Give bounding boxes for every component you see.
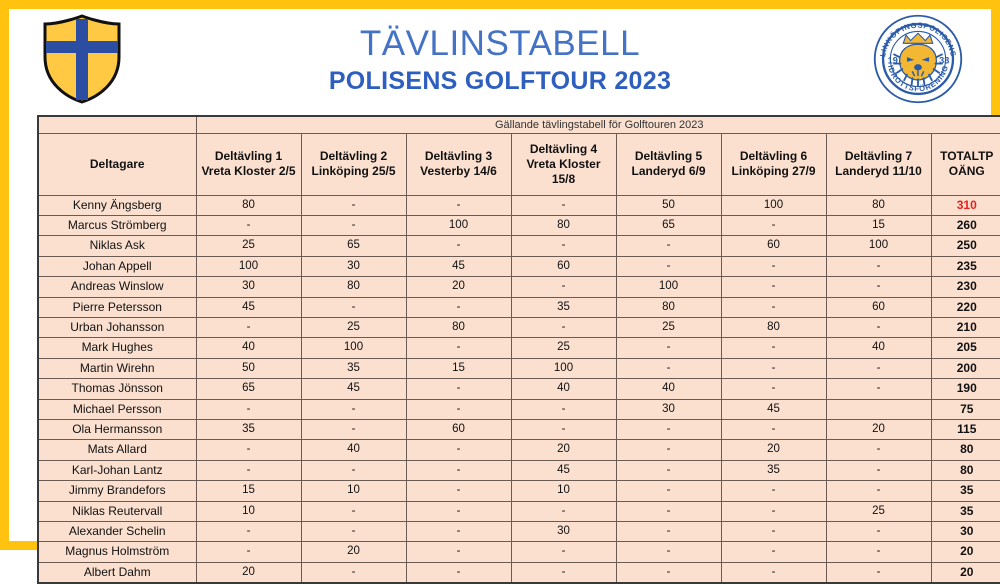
shield-logo — [27, 10, 137, 108]
score-cell-event-2: - — [301, 501, 406, 521]
column-header-event-2: Deltävling 2 Linköping 25/5 — [301, 133, 406, 195]
score-cell-event-4: - — [511, 195, 616, 215]
score-cell-event-2: 80 — [301, 277, 406, 297]
score-cell-event-5: 80 — [616, 297, 721, 317]
column-header-event-4: Deltävling 4 Vreta Kloster 15/8 — [511, 133, 616, 195]
score-cell-event-3: - — [406, 440, 511, 460]
column-header-event-6: Deltävling 6 Linköping 27/9 — [721, 133, 826, 195]
total-points-cell: 205 — [931, 338, 1000, 358]
score-cell-event-1: - — [196, 460, 301, 480]
table-row: Mark Hughes40100-25--40205 — [38, 338, 1000, 358]
score-cell-event-4: - — [511, 562, 616, 583]
score-cell-event-2: 30 — [301, 256, 406, 276]
score-cell-event-2: 40 — [301, 440, 406, 460]
score-cell-event-5: - — [616, 236, 721, 256]
column-header-deltagare: Deltagare — [38, 133, 196, 195]
score-cell-event-2: 35 — [301, 358, 406, 378]
column-header-event-1: Deltävling 1 Vreta Kloster 2/5 — [196, 133, 301, 195]
score-cell-event-5: - — [616, 542, 721, 562]
table-row: Magnus Holmström-20-----20 — [38, 542, 1000, 562]
table-row: Andreas Winslow308020-100--230 — [38, 277, 1000, 297]
score-cell-event-1: 25 — [196, 236, 301, 256]
score-cell-event-2: 25 — [301, 317, 406, 337]
score-cell-event-6: - — [721, 501, 826, 521]
score-cell-event-2: 100 — [301, 338, 406, 358]
table-row: Jimmy Brandefors1510-10---35 — [38, 481, 1000, 501]
score-cell-event-6: - — [721, 542, 826, 562]
participant-name: Pierre Petersson — [38, 297, 196, 317]
score-cell-event-6: 60 — [721, 236, 826, 256]
score-cell-event-3: - — [406, 522, 511, 542]
table-row: Martin Wirehn503515100---200 — [38, 358, 1000, 378]
table-row: Karl-Johan Lantz---45-35-80 — [38, 460, 1000, 480]
score-cell-event-3: - — [406, 481, 511, 501]
table-row: Niklas Ask2565---60100250 — [38, 236, 1000, 256]
participant-name: Niklas Reutervall — [38, 501, 196, 521]
score-cell-event-7: - — [826, 522, 931, 542]
participant-name: Urban Johansson — [38, 317, 196, 337]
score-cell-event-7: - — [826, 256, 931, 276]
score-cell-event-7: 20 — [826, 419, 931, 439]
total-points-cell: 30 — [931, 522, 1000, 542]
document-page: TÄVLINSTABELL POLISENS GOLFTOUR 2023 LIN… — [0, 0, 1000, 550]
banner-blank-cell — [38, 116, 196, 133]
column-header-event-7: Deltävling 7 Landeryd 11/10 — [826, 133, 931, 195]
score-cell-event-1: 10 — [196, 501, 301, 521]
column-header-title: Deltävling 4 — [514, 142, 614, 157]
score-cell-event-1: 45 — [196, 297, 301, 317]
participant-name: Mark Hughes — [38, 338, 196, 358]
score-cell-event-2: - — [301, 195, 406, 215]
score-cell-event-7: - — [826, 317, 931, 337]
column-header-title: Deltagare — [41, 157, 194, 172]
column-header-subtitle: OÄNG — [934, 164, 1000, 179]
score-cell-event-4: 80 — [511, 215, 616, 235]
swedish-cross-shield-icon — [39, 13, 125, 105]
table-row: Johan Appell100304560---235 — [38, 256, 1000, 276]
score-cell-event-1: 100 — [196, 256, 301, 276]
score-cell-event-7: 15 — [826, 215, 931, 235]
score-cell-event-5: - — [616, 501, 721, 521]
page-subtitle: POLISENS GOLFTOUR 2023 — [137, 68, 863, 94]
score-cell-event-6: - — [721, 481, 826, 501]
score-cell-event-4: - — [511, 277, 616, 297]
score-cell-event-2: 65 — [301, 236, 406, 256]
title-block: TÄVLINSTABELL POLISENS GOLFTOUR 2023 — [137, 26, 863, 95]
score-cell-event-2: - — [301, 297, 406, 317]
table-banner-text: Gällande tävlingstabell för Golftouren 2… — [196, 116, 1000, 133]
score-cell-event-3: - — [406, 562, 511, 583]
score-cell-event-7: - — [826, 460, 931, 480]
table-row: Ola Hermansson35-60---20115 — [38, 419, 1000, 439]
total-points-cell: 75 — [931, 399, 1000, 419]
score-cell-event-4: 60 — [511, 256, 616, 276]
score-cell-event-6: - — [721, 358, 826, 378]
column-header-title: Deltävling 7 — [829, 149, 929, 164]
score-cell-event-5: 65 — [616, 215, 721, 235]
score-cell-event-5: - — [616, 256, 721, 276]
column-header-title: Deltävling 2 — [304, 149, 404, 164]
column-header-subtitle: Vreta Kloster 15/8 — [514, 157, 614, 187]
score-cell-event-1: 40 — [196, 338, 301, 358]
score-cell-event-6: 45 — [721, 399, 826, 419]
score-cell-event-3: - — [406, 460, 511, 480]
score-cell-event-1: - — [196, 440, 301, 460]
score-cell-event-2: 45 — [301, 379, 406, 399]
participant-name: Thomas Jönsson — [38, 379, 196, 399]
total-points-cell: 210 — [931, 317, 1000, 337]
score-cell-event-4: - — [511, 542, 616, 562]
total-points-cell: 260 — [931, 215, 1000, 235]
participant-name: Jimmy Brandefors — [38, 481, 196, 501]
score-cell-event-3: - — [406, 195, 511, 215]
score-cell-event-5: - — [616, 338, 721, 358]
standings-table-wrapper: Gällande tävlingstabell för Golftouren 2… — [37, 115, 963, 584]
column-header-title: Deltävling 3 — [409, 149, 509, 164]
score-cell-event-4: 40 — [511, 379, 616, 399]
score-cell-event-2: - — [301, 419, 406, 439]
total-points-cell: 230 — [931, 277, 1000, 297]
column-header-subtitle: Landeryd 11/10 — [829, 164, 929, 179]
score-cell-event-3: - — [406, 379, 511, 399]
total-points-cell: 310 — [931, 195, 1000, 215]
score-cell-event-7: 40 — [826, 338, 931, 358]
participant-name: Mats Allard — [38, 440, 196, 460]
participant-name: Kenny Ängsberg — [38, 195, 196, 215]
participant-name: Niklas Ask — [38, 236, 196, 256]
page-title: TÄVLINSTABELL — [137, 26, 863, 63]
score-cell-event-6: 100 — [721, 195, 826, 215]
total-points-cell: 80 — [931, 460, 1000, 480]
score-cell-event-2: - — [301, 460, 406, 480]
score-cell-event-7: - — [826, 481, 931, 501]
score-cell-event-6: 35 — [721, 460, 826, 480]
score-cell-event-7 — [826, 399, 931, 419]
score-cell-event-3: 15 — [406, 358, 511, 378]
table-row: Mats Allard-40-20-20-80 — [38, 440, 1000, 460]
score-cell-event-6: - — [721, 277, 826, 297]
score-cell-event-5: - — [616, 419, 721, 439]
participant-name: Ola Hermansson — [38, 419, 196, 439]
score-cell-event-6: - — [721, 562, 826, 583]
participant-name: Magnus Holmström — [38, 542, 196, 562]
document-header: TÄVLINSTABELL POLISENS GOLFTOUR 2023 LIN… — [9, 9, 991, 109]
score-cell-event-7: - — [826, 358, 931, 378]
score-cell-event-5: 100 — [616, 277, 721, 297]
score-cell-event-2: - — [301, 562, 406, 583]
total-points-cell: 20 — [931, 542, 1000, 562]
score-cell-event-5: - — [616, 358, 721, 378]
score-cell-event-4: 100 — [511, 358, 616, 378]
participant-name: Alexander Schelin — [38, 522, 196, 542]
table-row: Albert Dahm20------20 — [38, 562, 1000, 583]
score-cell-event-6: - — [721, 419, 826, 439]
score-cell-event-6: - — [721, 297, 826, 317]
score-cell-event-2: - — [301, 522, 406, 542]
table-row: Kenny Ängsberg80---5010080310 — [38, 195, 1000, 215]
score-cell-event-1: 15 — [196, 481, 301, 501]
score-cell-event-3: - — [406, 338, 511, 358]
score-cell-event-3: - — [406, 501, 511, 521]
score-cell-event-5: 50 — [616, 195, 721, 215]
score-cell-event-1: 20 — [196, 562, 301, 583]
score-cell-event-5: - — [616, 440, 721, 460]
score-cell-event-1: 65 — [196, 379, 301, 399]
column-header-title: Deltävling 5 — [619, 149, 719, 164]
score-cell-event-3: 60 — [406, 419, 511, 439]
score-cell-event-1: 35 — [196, 419, 301, 439]
table-head: Gällande tävlingstabell för Golftouren 2… — [38, 116, 1000, 195]
table-banner-row: Gällande tävlingstabell för Golftouren 2… — [38, 116, 1000, 133]
score-cell-event-3: - — [406, 297, 511, 317]
score-cell-event-6: 20 — [721, 440, 826, 460]
linkopingspolisens-idrottsforening-badge-icon: LINKÖPINGSPOLISENS IDROTTSFÖRENING 19 33 — [872, 13, 964, 105]
total-points-cell: 220 — [931, 297, 1000, 317]
score-cell-event-7: 25 — [826, 501, 931, 521]
participant-name: Johan Appell — [38, 256, 196, 276]
score-cell-event-6: - — [721, 338, 826, 358]
club-badge-logo: LINKÖPINGSPOLISENS IDROTTSFÖRENING 19 33 — [863, 10, 973, 108]
column-header-subtitle: Vreta Kloster 2/5 — [199, 164, 299, 179]
score-cell-event-4: - — [511, 317, 616, 337]
score-cell-event-6: - — [721, 522, 826, 542]
score-cell-event-3: 45 — [406, 256, 511, 276]
score-cell-event-2: 10 — [301, 481, 406, 501]
column-header-subtitle: Linköping 25/5 — [304, 164, 404, 179]
score-cell-event-4: 45 — [511, 460, 616, 480]
score-cell-event-5: - — [616, 562, 721, 583]
score-cell-event-5: 40 — [616, 379, 721, 399]
score-cell-event-1: 80 — [196, 195, 301, 215]
score-cell-event-1: - — [196, 317, 301, 337]
column-header-total: TOTALTP OÄNG — [931, 133, 1000, 195]
table-column-header-row: Deltagare Deltävling 1 Vreta Kloster 2/5… — [38, 133, 1000, 195]
score-cell-event-4: - — [511, 419, 616, 439]
score-cell-event-6: - — [721, 379, 826, 399]
participant-name: Albert Dahm — [38, 562, 196, 583]
score-cell-event-4: 30 — [511, 522, 616, 542]
score-cell-event-2: 20 — [301, 542, 406, 562]
score-cell-event-7: - — [826, 440, 931, 460]
score-cell-event-1: - — [196, 399, 301, 419]
participant-name: Michael Persson — [38, 399, 196, 419]
total-points-cell: 80 — [931, 440, 1000, 460]
score-cell-event-5: - — [616, 460, 721, 480]
score-cell-event-3: - — [406, 236, 511, 256]
score-cell-event-2: - — [301, 215, 406, 235]
total-points-cell: 20 — [931, 562, 1000, 583]
column-header-subtitle: Linköping 27/9 — [724, 164, 824, 179]
table-row: Marcus Strömberg--1008065-15260 — [38, 215, 1000, 235]
score-cell-event-3: 80 — [406, 317, 511, 337]
participant-name: Andreas Winslow — [38, 277, 196, 297]
score-cell-event-1: - — [196, 215, 301, 235]
table-row: Alexander Schelin---30---30 — [38, 522, 1000, 542]
score-cell-event-1: - — [196, 542, 301, 562]
total-points-cell: 200 — [931, 358, 1000, 378]
column-header-title: Deltävling 6 — [724, 149, 824, 164]
column-header-event-3: Deltävling 3 Vesterby 14/6 — [406, 133, 511, 195]
score-cell-event-7: 80 — [826, 195, 931, 215]
column-header-subtitle: Landeryd 6/9 — [619, 164, 719, 179]
participant-name: Marcus Strömberg — [38, 215, 196, 235]
total-points-cell: 190 — [931, 379, 1000, 399]
total-points-cell: 35 — [931, 501, 1000, 521]
score-cell-event-4: - — [511, 501, 616, 521]
score-cell-event-7: - — [826, 562, 931, 583]
total-points-cell: 35 — [931, 481, 1000, 501]
table-body: Kenny Ängsberg80---5010080310Marcus Strö… — [38, 195, 1000, 583]
table-row: Pierre Petersson45--3580-60220 — [38, 297, 1000, 317]
score-cell-event-6: - — [721, 256, 826, 276]
score-cell-event-5: 30 — [616, 399, 721, 419]
table-row: Urban Johansson-2580-2580-210 — [38, 317, 1000, 337]
score-cell-event-4: 35 — [511, 297, 616, 317]
total-points-cell: 235 — [931, 256, 1000, 276]
score-cell-event-3: - — [406, 542, 511, 562]
table-row: Niklas Reutervall10-----2535 — [38, 501, 1000, 521]
participant-name: Karl-Johan Lantz — [38, 460, 196, 480]
column-header-event-5: Deltävling 5 Landeryd 6/9 — [616, 133, 721, 195]
score-cell-event-7: 100 — [826, 236, 931, 256]
total-points-cell: 115 — [931, 419, 1000, 439]
score-cell-event-1: 30 — [196, 277, 301, 297]
score-cell-event-4: 25 — [511, 338, 616, 358]
score-cell-event-4: 10 — [511, 481, 616, 501]
score-cell-event-5: - — [616, 522, 721, 542]
score-cell-event-6: - — [721, 215, 826, 235]
score-cell-event-3: 100 — [406, 215, 511, 235]
score-cell-event-7: 60 — [826, 297, 931, 317]
score-cell-event-1: - — [196, 522, 301, 542]
column-header-subtitle: Vesterby 14/6 — [409, 164, 509, 179]
table-row: Michael Persson----304575 — [38, 399, 1000, 419]
standings-table: Gällande tävlingstabell för Golftouren 2… — [37, 115, 1000, 584]
score-cell-event-5: 25 — [616, 317, 721, 337]
column-header-title: TOTALTP — [934, 149, 1000, 164]
score-cell-event-4: 20 — [511, 440, 616, 460]
table-row: Thomas Jönsson6545-4040--190 — [38, 379, 1000, 399]
column-header-title: Deltävling 1 — [199, 149, 299, 164]
score-cell-event-3: - — [406, 399, 511, 419]
score-cell-event-3: 20 — [406, 277, 511, 297]
total-points-cell: 250 — [931, 236, 1000, 256]
score-cell-event-7: - — [826, 277, 931, 297]
score-cell-event-7: - — [826, 379, 931, 399]
score-cell-event-4: - — [511, 236, 616, 256]
score-cell-event-4: - — [511, 399, 616, 419]
score-cell-event-7: - — [826, 542, 931, 562]
participant-name: Martin Wirehn — [38, 358, 196, 378]
score-cell-event-6: 80 — [721, 317, 826, 337]
score-cell-event-5: - — [616, 481, 721, 501]
score-cell-event-2: - — [301, 399, 406, 419]
score-cell-event-1: 50 — [196, 358, 301, 378]
